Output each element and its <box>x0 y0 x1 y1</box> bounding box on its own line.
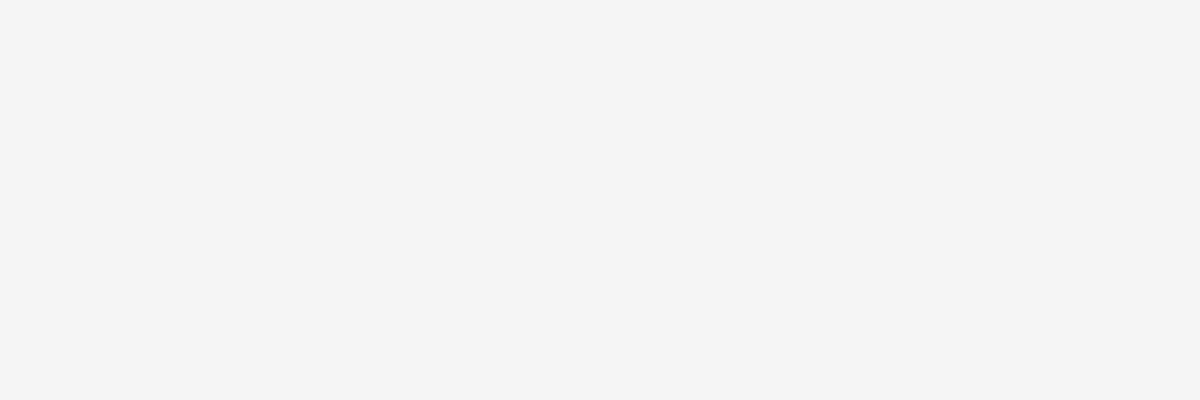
infographic-canvas <box>0 0 1200 400</box>
